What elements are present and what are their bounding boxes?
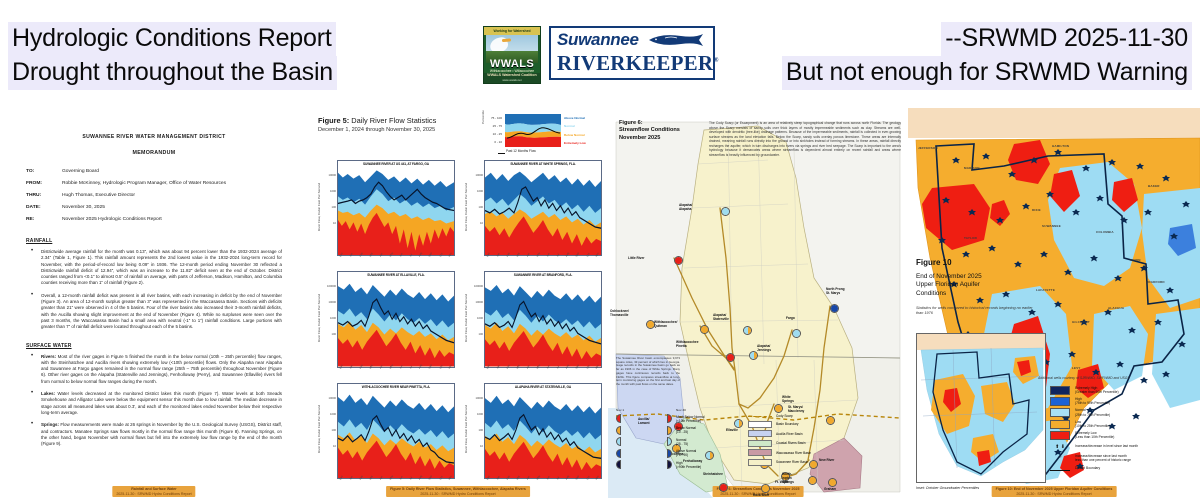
memo-section-surface-water: SURFACE WATER (26, 343, 282, 349)
figure10-legend-symbol-label: Increase/decrease in level since last mo… (1075, 444, 1138, 448)
figure10-panel[interactable]: JEFFERSON MADISON HAMILTON TAYLOR SUWANN… (908, 108, 1200, 498)
srwmd-memorandum: SUWANNEE RIVER WATER MANAGEMENT DISTRICT… (0, 108, 308, 498)
gage-marker-icon (721, 207, 730, 216)
figure6-number: Figure 6: (619, 120, 680, 127)
figure10-legend-item-0: Extremely High(Greater than 90th Percent… (1050, 386, 1198, 395)
memo-caption-bar: Rainfall and Surface Water 2025-11-30 : … (112, 486, 195, 497)
figure6-gage-8[interactable]: Alapaha/Jennings (749, 351, 758, 360)
figure5-caption-line2: 2025-11-30 : SRWMD Hydro Conditions Repo… (420, 492, 495, 496)
figure10-county-taylor: TAYLOR (964, 236, 977, 240)
gage-marker-icon (700, 325, 709, 334)
figure5-legend-labels: Above Normal Normal Below Normal Extreme… (564, 114, 586, 147)
figure6-legend-feature-1: Basin Boundary (748, 421, 868, 428)
figure5-chart-ellaville[interactable]: River Flow, Cubic Feet Per Second 100000… (314, 271, 455, 378)
figure5-plot-title-3: SUWANNEE RIVER AT BRANFORD, FLA. (485, 273, 601, 277)
figure6-title-line2: Streamflow Conditions (619, 127, 680, 134)
memo-label-thru: THRU: (26, 190, 62, 202)
figure5-legend-bands (505, 114, 561, 147)
figure6-legend-feature-label: Waccasassa River Basin (776, 451, 811, 455)
header-right-title: --SRWMD 2025-11-30 But not enough for SR… (782, 22, 1192, 90)
figure5-ylabel-1: River Flow, Cubic Feet Per Second (461, 160, 470, 253)
level-change-arrow-icon: ⇔ (1050, 454, 1070, 460)
figure10-legend-symbol-label: District Boundary (1075, 466, 1100, 470)
figure6-gage-label: WhiteSprings (782, 396, 794, 404)
basin-swatch-icon (748, 459, 772, 466)
level-change-arrow-icon: ⬆ ⬇ (1050, 444, 1070, 450)
figure5-chart-fargo[interactable]: River Flow, Cubic Feet Per Second 100001… (314, 160, 455, 267)
figure6-legend: Nov 1 Nov 30 Much Below Normal(<10th Per… (616, 408, 900, 472)
figure5-plot-title-4: WITHLACOOCHEE RIVER NEAR PINETTA, FLA. (338, 385, 454, 389)
gage-marker-icon (830, 304, 839, 313)
figure10-legend: Extremely High(Greater than 90th Percent… (1050, 386, 1198, 473)
memo-value-date: November 30, 2025 (62, 202, 282, 214)
memo-surface-bullet-springs: Springs: Flow measurements were made at … (38, 422, 282, 447)
figure5-plot-3[interactable]: SUWANNEE RIVER AT BRANFORD, FLA. (484, 271, 602, 367)
figure10-county-jefferson: JEFFERSON (918, 146, 938, 150)
figure6-gage-label: WithlacoocheePinetta (676, 341, 698, 349)
figure5-legend-axis-label: Percentile (481, 116, 485, 124)
figure6-legend-features: Cody ScarpBasin BoundaryAucilla River Ba… (748, 414, 868, 472)
figure6-legend-feature-label: Aucilla River Basin (776, 432, 803, 436)
figure6-gage-3[interactable]: Withlacoochee/Quitman (700, 325, 709, 334)
figure6-gage-label: Steinhatchee (703, 473, 723, 477)
memo-value-re: November 2025 Hydrologic Conditions Repo… (62, 214, 282, 226)
gage-marker-icon (828, 478, 837, 487)
memo-value-from: Robbie McKinney, Hydrologic Program Mana… (62, 178, 282, 190)
basin-swatch-icon (748, 421, 772, 428)
figure6-gage-label: North ProngSt. Marys (826, 288, 845, 296)
figure5-plot-0[interactable]: SUWANNEE RIVER AT US 441, AT FARGO, GA (337, 160, 455, 256)
figure10-title-line1: End of November 2025 (916, 273, 1036, 281)
memo-label-from: FROM: (26, 178, 62, 190)
figure5-chart-branford[interactable]: River Flow, Cubic Feet Per Second 100000… (461, 271, 602, 378)
figure6-gage-label: Worth-ingtonSprings (782, 473, 794, 485)
memo-surface-bullet-lakes: Lakes: Water levels decreased at the mon… (38, 391, 282, 416)
figure10-legend-label: Extremely High(Greater than 90th Percent… (1075, 386, 1119, 394)
figure10-statistics-note: Statistics for wells compared to histori… (916, 306, 1036, 316)
figure5-legend: Percentile 75 - 100 25 - 75 10 - 25 0 - … (480, 112, 602, 156)
percentile-swatch-icon (1050, 420, 1070, 429)
memo-row-to: TO: Governing Board (26, 166, 282, 178)
logo-block: Working for Watershed Conservation WWALS… (483, 26, 715, 84)
figure6-legend-class-label: Below Normal(10 - 25) (676, 426, 696, 434)
basin-swatch-icon (748, 440, 772, 447)
legend-half-circle-icon (616, 426, 621, 435)
figure10-legend-label: Extremely Low(Less than 10th Percentile) (1075, 431, 1114, 439)
figure5-ylabel-4: River Flow, Cubic Feet Per Second (314, 383, 323, 476)
figure5-plot-5[interactable]: ALAPAHA RIVER AT STATENVILLE, GA (484, 383, 602, 479)
figure10-legend-symbol-label: Increase/decrease since last monthless t… (1075, 454, 1131, 462)
figure10-legend-label: Low(10th to 25th Percentile) (1075, 420, 1110, 428)
figure10-title: End of November 2025 Upper Floridan Aqui… (916, 273, 1036, 298)
legend-half-circle-icon (667, 426, 672, 435)
figure6-gage-7[interactable]: WithlacoocheePinetta (726, 353, 735, 362)
figure5-legend-label-above-normal: Above Normal (564, 114, 586, 122)
figure5-chart-withlacoochee-pinetta[interactable]: River Flow, Cubic Feet Per Second 100001… (314, 383, 455, 490)
figure5-legend-label-below-normal: Below Normal (564, 131, 586, 139)
figure10-county-lafayette: LAFAYETTE (1036, 288, 1055, 292)
memo-row-re: RE: November 2025 Hydrologic Conditions … (26, 214, 282, 226)
figure6-legend-class-3: Above Normal(75 - 90) (616, 449, 736, 458)
figure6-legend-feature-label: Suwannee River Basin (776, 460, 808, 464)
figure10-county-hamilton: HAMILTON (1052, 144, 1069, 148)
figure10-county-gilchrist: GILCHRIST (1072, 320, 1090, 324)
memo-label-to: TO: (26, 166, 62, 178)
figure6-gage-label: Ochlocknee/Thomasville (610, 310, 629, 318)
figure5-plot-1[interactable]: SUWANNEE RIVER AT WHITE SPRINGS, FLA. (484, 160, 602, 256)
figure10-county-dixie: DIXIE (1032, 208, 1041, 212)
legend-half-circle-icon (667, 460, 672, 469)
figure6-legend-header-nov30: Nov 30 (676, 408, 686, 412)
memo-rainfall-bullet-1: Districtwide average rainfall for the mo… (38, 249, 282, 287)
figure5-xticks-3: DecJanFebMarAprMayJunJulAugSepOctNov (484, 368, 602, 379)
gage-marker-icon (743, 326, 752, 335)
figure6-gage-6[interactable]: North ProngSt. Marys (830, 304, 839, 313)
memo-rainfall-bullet-2: Overall, a 12-month rainfall deficit was… (38, 293, 282, 331)
memo-organization: SUWANNEE RIVER WATER MANAGEMENT DISTRICT (26, 134, 282, 140)
figure10-county-columbia: COLUMBIA (1096, 230, 1114, 234)
gage-marker-icon (719, 483, 728, 492)
registered-mark: ® (713, 56, 718, 64)
figure10-legend-label: High(75th to 90th Percentile) (1075, 397, 1110, 405)
figure5-title: Figure 5: Daily River Flow Statistics (318, 116, 436, 125)
figure5-panel[interactable]: Figure 5: Daily River Flow Statistics De… (308, 108, 608, 498)
memo-label-date: DATE: (26, 202, 62, 214)
figure5-chart-grid: River Flow, Cubic Feet Per Second 100001… (314, 160, 602, 490)
gage-marker-icon (792, 329, 801, 338)
cody-scarp-line-icon (748, 416, 772, 417)
riverkeeper-text: RIVERKEEPER (557, 51, 713, 75)
figure6-gage-label: Fargo (786, 317, 795, 321)
figure5-plot-4[interactable]: WITHLACOOCHEE RIVER NEAR PINETTA, FLA. (337, 383, 455, 479)
figure6-legend-feature-label: Cody Scarp (776, 414, 793, 418)
figure5-chart-alapaha-statenville[interactable]: River Flow, Cubic Feet Per Second 100001… (461, 383, 602, 490)
figure5-legend-ticks: 75 - 100 25 - 75 10 - 25 0 - 10 (486, 114, 502, 146)
riverkeeper-wordmark: RIVERKEEPER® (557, 49, 707, 74)
memo-row-date: DATE: November 30, 2025 (26, 202, 282, 214)
figure10-county-suwannee: SUWANNEE (1042, 224, 1061, 228)
percentile-swatch-icon (1050, 431, 1070, 440)
figure10-county-bradford: BRADFORD (1146, 280, 1165, 284)
figure6-legend-feature-2: Aucilla River Basin (748, 430, 868, 437)
wwals-tagline-band: Working for Watershed Conservation (484, 27, 540, 35)
figure6-gage-15[interactable]: Steinhatchee (719, 483, 728, 492)
figure10-legend-item-3: Low(10th to 25th Percentile) (1050, 420, 1198, 429)
legend-half-circle-icon (667, 449, 672, 458)
legend-half-circle-icon (616, 437, 621, 446)
figure5-yticks-4: 10000100010010 (323, 391, 336, 455)
figure10-county-madison: MADISON (964, 166, 980, 170)
percentile-swatch-icon (1050, 397, 1070, 406)
figure6-gage-0[interactable]: Little River (674, 256, 683, 265)
legend-half-circle-icon (616, 414, 621, 423)
memo-value-thru: Hugh Thomas, Executive Director (62, 190, 282, 202)
figure10-legend-symbol-1: ⇔Increase/decrease since last monthless … (1050, 454, 1198, 462)
figure6-legend-class-label: High(>90th Percentile) (676, 461, 701, 469)
figure6-panel[interactable]: Figure 6: Streamflow Conditions November… (608, 108, 908, 498)
header-left-line-1: Hydrologic Conditions Report (8, 22, 336, 56)
figure6-gage-4[interactable]: Alapaha/Statenville (743, 326, 752, 335)
memo-caption-line2: 2025-11-30 : SRWMD Hydro Conditions Repo… (116, 492, 191, 496)
figure10-legend-label: Normal(25th to 75th Percentile) (1075, 408, 1110, 416)
figure5-legend-tick-1: 25 - 75 (486, 122, 502, 130)
gage-marker-icon (808, 476, 817, 485)
figure5-ylabel-2: River Flow, Cubic Feet Per Second (314, 271, 323, 364)
figure5-ylabel-5: River Flow, Cubic Feet Per Second (461, 383, 470, 476)
figure10-county-levy: LEVY (1072, 366, 1081, 370)
memo-surface-bullet-rivers: Rivers: Most of the river gages in Figur… (38, 354, 282, 385)
figure6-title: Figure 6: Streamflow Conditions November… (619, 120, 680, 142)
figure5-legend-tick-3: 0 - 10 (486, 138, 502, 146)
figure5-yticks-3: 100000100001000100 (470, 279, 483, 343)
gage-marker-icon (726, 353, 735, 362)
legend-half-circle-icon (667, 437, 672, 446)
gage-marker-icon (674, 256, 683, 265)
figure5-legend-tick-2: 10 - 25 (486, 130, 502, 138)
legend-half-circle-icon (667, 414, 672, 423)
figure6-legend-feature-label: Coastal Rivers Basin (776, 441, 806, 445)
figure6-title-line3: November 2025 (619, 135, 680, 142)
memo-panel[interactable]: SUWANNEE RIVER WATER MANAGEMENT DISTRICT… (0, 108, 308, 498)
wwals-url: www.wwals.net (484, 78, 540, 82)
memo-lead-rivers: Rivers: (41, 354, 56, 359)
figure6-legend-feature-3: Coastal Rivers Basin (748, 440, 868, 447)
memo-rainfall-list: Districtwide average rainfall for the mo… (26, 249, 282, 331)
figure5-plot-title-2: SUWANNEE RIVER AT ELLAVILLE, FLA. (338, 273, 454, 277)
figure6-gage-21[interactable]: Graham (828, 478, 837, 487)
figure5-legend-label-normal: Normal (564, 122, 586, 130)
figure10-legend-symbol-2: District Boundary (1050, 466, 1198, 471)
figure5-legend-tick-0: 75 - 100 (486, 114, 502, 122)
figure10-inset-caption: Inset: October Groundwater Percentiles (916, 486, 979, 490)
figure10-county-baker: BAKER (1148, 184, 1160, 188)
figure10-caption-bar: Figure 10: End of November 2025 Upper Fl… (992, 486, 1117, 497)
figure5-xticks-1: DecJanFebMarAprMayJunJulAugSepOctNov (484, 256, 602, 267)
figure6-legend-header-nov1: Nov 1 (616, 408, 676, 412)
header-right-line-2: But not enough for SRWMD Warning (782, 56, 1192, 90)
figure5-xticks-2: DecJanFebMarAprMayJunJulAugSepOctNov (337, 368, 455, 379)
memo-surface-list: Rivers: Most of the river gages in Figur… (26, 354, 282, 448)
figure6-gage-5[interactable]: Fargo (792, 329, 801, 338)
figure5-chart-white-springs[interactable]: River Flow, Cubic Feet Per Second 100001… (461, 160, 602, 267)
figure6-gage-18[interactable]: Rock Bluff (761, 484, 770, 493)
figure5-plot-title-5: ALAPAHA RIVER AT STATENVILLE, GA (485, 385, 601, 389)
figure5-yticks-2: 100000100001000100 (323, 279, 336, 343)
figure6-legend-class-4: High(>90th Percentile) (616, 460, 736, 469)
memo-lead-lakes: Lakes: (41, 391, 55, 396)
figure6-legend-feature-label: Basin Boundary (776, 422, 799, 426)
figure6-gage-label: Alapaha/Jennings (757, 345, 771, 353)
figure6-legend-feature-4: Waccasassa River Basin (748, 449, 868, 456)
figure6-legend-classes: Much Below Normal(<10th Percentile)Below… (616, 414, 736, 472)
memo-text-lakes: Water levels decreased at the monitored … (41, 391, 282, 415)
figure5-number: Figure 5: (318, 116, 349, 125)
basin-swatch-icon (748, 430, 772, 437)
figure6-map[interactable]: Figure 6: Streamflow Conditions November… (608, 108, 908, 498)
figure6-legend-class-label: Above Normal(75 - 90) (676, 449, 696, 457)
memo-fields: TO: Governing Board FROM: Robbie McKinne… (26, 166, 282, 226)
suwannee-riverkeeper-logo: Suwannee RIVERKEEPER® (549, 26, 715, 80)
figure10-map[interactable]: JEFFERSON MADISON HAMILTON TAYLOR SUWANN… (908, 108, 1200, 498)
figure6-legend-class-label: Much Below Normal(<10th Percentile) (676, 415, 705, 423)
district-boundary-line-icon (1050, 470, 1070, 471)
basin-swatch-icon (748, 449, 772, 456)
header-right-line-1: --SRWMD 2025-11-30 (941, 22, 1192, 56)
figure5-title-text: Daily River Flow Statistics (351, 116, 436, 125)
figure6-legend-feature-5: Suwannee River Basin (748, 459, 868, 466)
legend-half-circle-icon (616, 449, 621, 458)
figure10-title-line3: Conditions (916, 290, 1036, 298)
figure6-cody-scarp-note: The Cody Scarp (or Escarpment) is an are… (709, 121, 901, 157)
figure5-plot-title-0: SUWANNEE RIVER AT US 441, AT FARGO, GA (338, 162, 454, 166)
wwals-footer-band: WWALS Watershed Coalition www.wwals.net (484, 73, 540, 83)
figure10-inset-map[interactable] (916, 333, 1046, 483)
memo-text-springs: Flow measurements were made at 26 spring… (41, 422, 282, 446)
figure6-legend-class-label: Normal(25 - 75) (676, 438, 688, 446)
figure6-gage-label: Rock Bluff (753, 494, 769, 498)
figure6-legend-class-2: Normal(25 - 75) (616, 437, 736, 446)
figure6-gage-label: Withlacoochee/Quitman (654, 321, 677, 329)
memo-lead-springs: Springs: (41, 422, 59, 427)
figure5-subtitle: December 1, 2024 through November 30, 20… (318, 127, 435, 133)
figure5-plot-title-1: SUWANNEE RIVER AT WHITE SPRINGS, FLA. (485, 162, 601, 166)
legend-half-circle-icon (616, 460, 621, 469)
figure5-xticks-0: DecJanFebMarAprMayJunJulAugSepOctNov (337, 256, 455, 267)
figure6-gage-20[interactable]: Worth-ingtonSprings (808, 476, 817, 485)
figure6-gage-label: Alapaha/Alapaha (679, 204, 692, 212)
memo-row-thru: THRU: Hugh Thomas, Executive Director (26, 190, 282, 202)
figure6-legend-class-1: Below Normal(10 - 25) (616, 426, 736, 435)
figure5-yticks-0: 10000100010010 (323, 168, 336, 232)
figure10-caption-line2: 2025-11-30 : SRWMD Hydro Conditions Repo… (1016, 492, 1091, 496)
figure6-gage-label: Graham (824, 488, 836, 492)
figure10-legend-symbol-0: ⬆ ⬇Increase/decrease in level since last… (1050, 444, 1198, 450)
memo-text-rivers: Most of the river gages in Figure 5 fini… (41, 354, 282, 384)
memo-row-from: FROM: Robbie McKinney, Hydrologic Progra… (26, 178, 282, 190)
figure10-additional-wells-note: Additional wells courtesy of SJRWMD, SWF… (1038, 376, 1130, 380)
memo-value-to: Governing Board (62, 166, 282, 178)
gage-marker-icon (761, 484, 770, 493)
figure6-legend-header: Nov 1 Nov 30 (616, 408, 900, 412)
figure5-plot-2[interactable]: SUWANNEE RIVER AT ELLAVILLE, FLA. (337, 271, 455, 367)
figure5-yticks-5: 10000100010010 (470, 391, 483, 455)
figure5-ylabel-3: River Flow, Cubic Feet Per Second (461, 271, 470, 364)
memo-title: MEMORANDUM (26, 150, 282, 156)
riverkeeper-suwannee-text: Suwannee (557, 31, 639, 49)
figure6-gage-label: Little River (628, 257, 644, 261)
figure5-ylabel-0: River Flow, Cubic Feet Per Second (314, 160, 323, 253)
figure5-yticks-1: 10000100010010 (470, 168, 483, 232)
figure10-county-union: UNION (1130, 258, 1141, 262)
figure6-legend-class-0: Much Below Normal(<10th Percentile) (616, 414, 736, 423)
figure10-county-alachua: ALACHUA (1108, 306, 1124, 310)
memo-label-re: RE: (26, 214, 62, 226)
figure10-legend-item-2: Normal(25th to 75th Percentile) (1050, 408, 1198, 417)
figure6-gage-1[interactable]: Alapaha/Alapaha (721, 207, 730, 216)
figure5-legend-caption: Past 12 Months Flow (506, 149, 536, 153)
header-left-title: Hydrologic Conditions Report Drought thr… (8, 22, 337, 90)
header-left-line-2: Drought throughout the Basin (8, 56, 337, 90)
percentile-swatch-icon (1050, 386, 1070, 395)
figure10-number: Figure 10 (916, 258, 952, 267)
figure6-legend-feature-0: Cody Scarp (748, 414, 868, 418)
memo-section-rainfall: RAINFALL (26, 238, 282, 244)
figure5-legend-label-extremely-low: Extremely Low (564, 139, 586, 147)
figure10-legend-item-1: High(75th to 90th Percentile) (1050, 397, 1198, 406)
figure10-legend-item-4: Extremely Low(Less than 10th Percentile) (1050, 431, 1198, 440)
figure5-caption-bar: Figure 5: Daily River Flow Statistics, S… (386, 486, 530, 497)
page-header: Hydrologic Conditions Report Drought thr… (0, 0, 1200, 108)
wwals-logo-icon: Working for Watershed Conservation WWALS… (483, 26, 541, 84)
figure6-basin-blurb: The Suwannee River basin encompasses 9,9… (616, 357, 680, 387)
figure10-title-line2: Upper Floridan Aquifer (916, 281, 1036, 289)
fish-icon (642, 33, 707, 47)
percentile-swatch-icon (1050, 408, 1070, 417)
figure6-gage-label: Alapaha/Statenville (713, 314, 729, 322)
